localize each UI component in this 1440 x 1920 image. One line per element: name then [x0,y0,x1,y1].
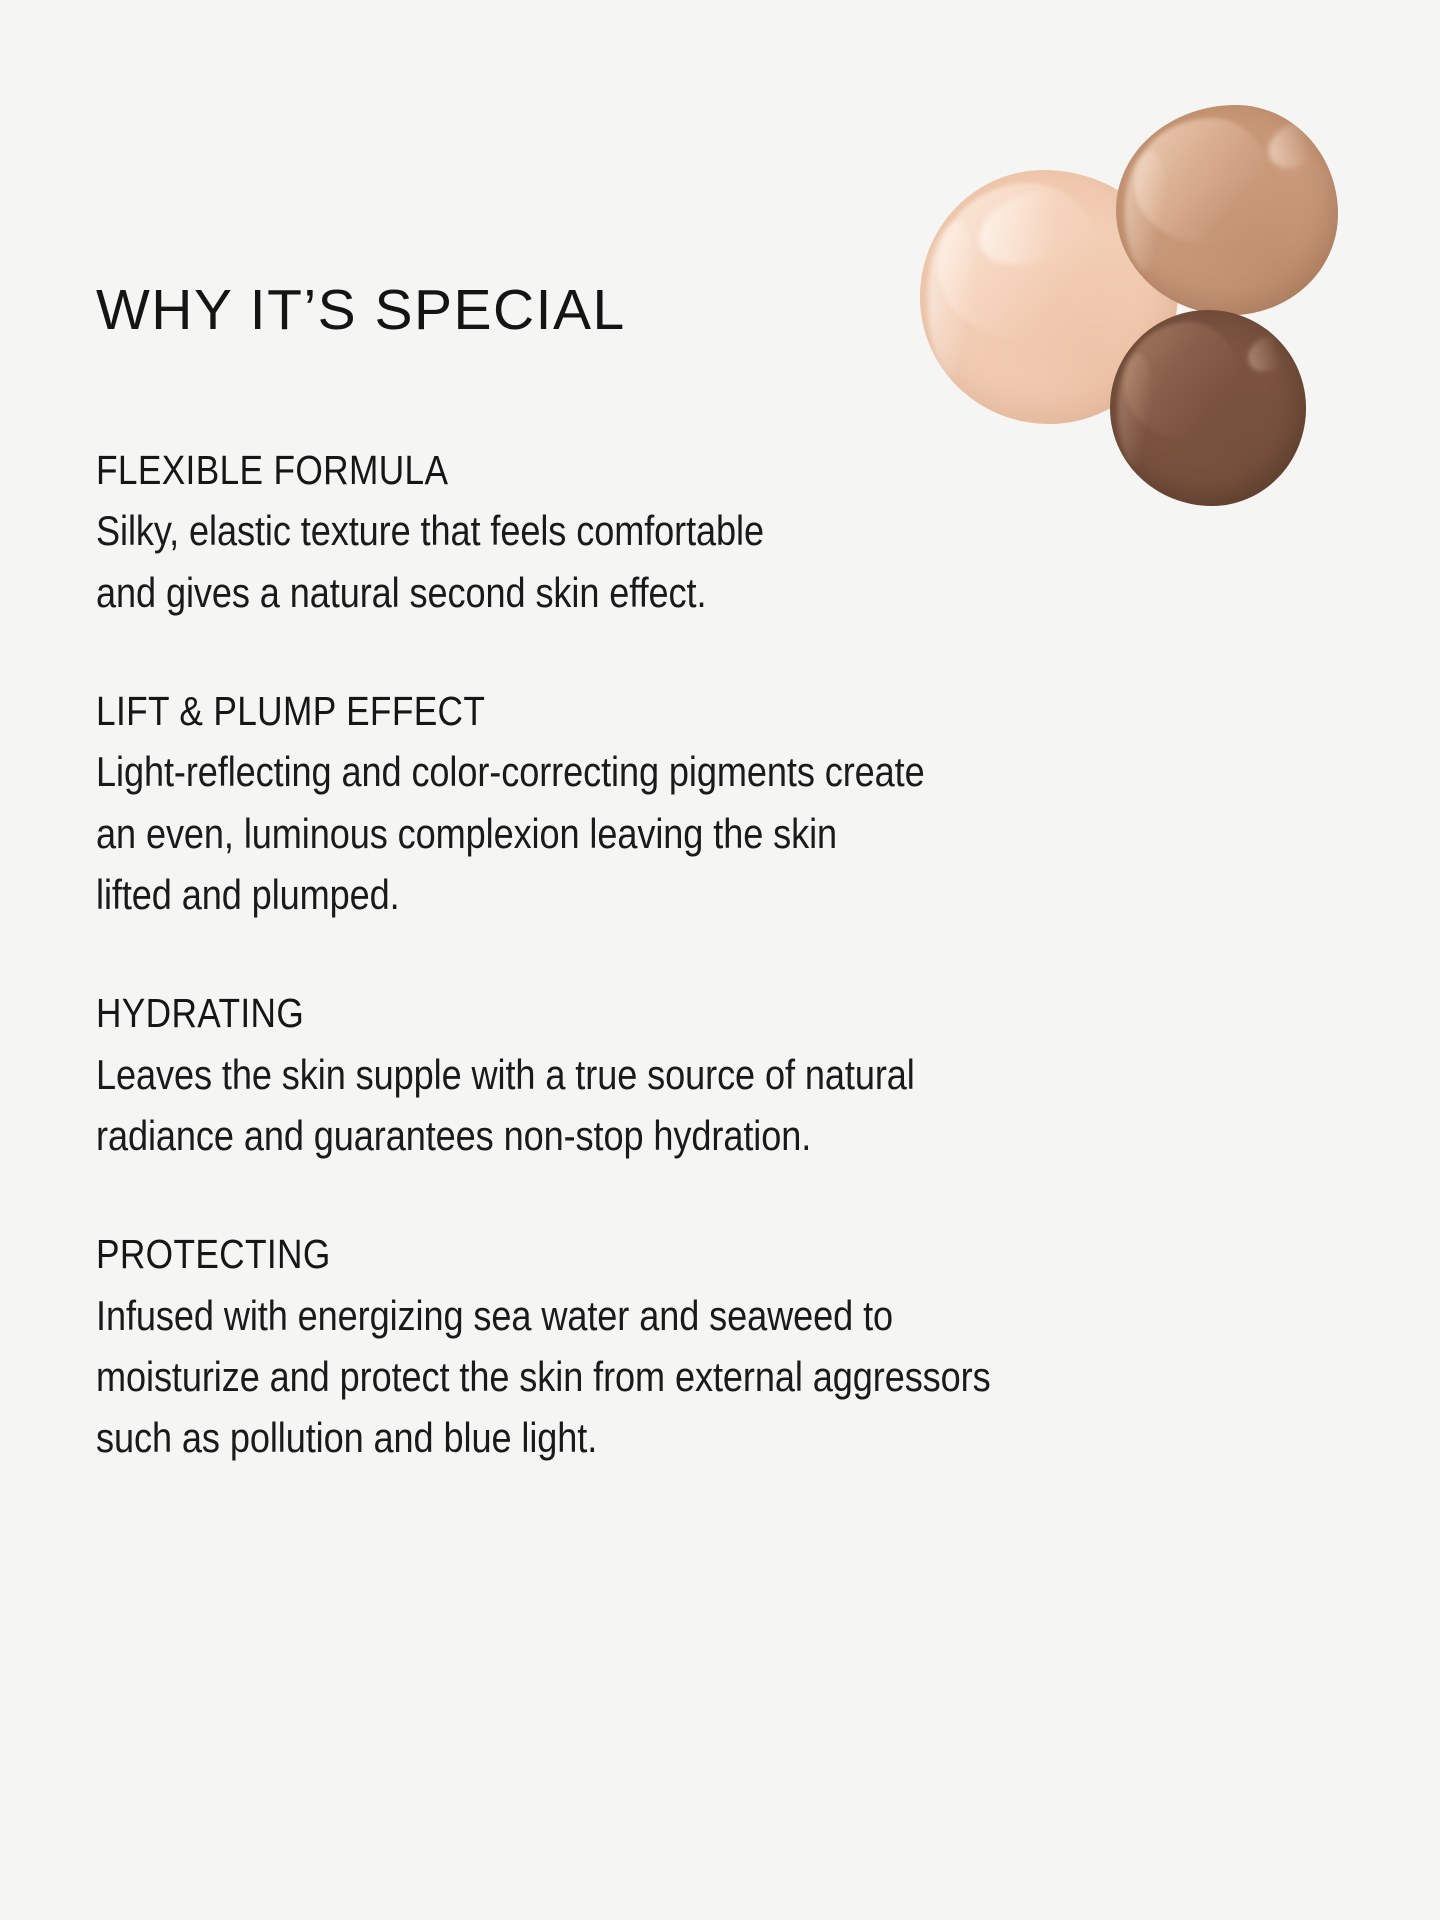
section-body: Light-reflecting and color-correcting pi… [96,741,1214,925]
section-heading: LIFT & PLUMP EFFECT [96,687,1214,735]
section-body: Leaves the skin supple with a true sourc… [96,1044,1214,1167]
section-heading: HYDRATING [96,989,1214,1037]
droplet-edge-highlight [928,221,977,378]
droplet-gloss-highlight [1134,118,1272,244]
benefit-section-hydrating: HYDRATING Leaves the skin supple with a … [96,989,1396,1166]
droplet-edge-highlight [1125,151,1169,273]
section-body: Silky, elastic texture that feels comfor… [96,500,1214,623]
benefit-section-lift-plump-effect: LIFT & PLUMP EFFECT Light-reflecting and… [96,687,1396,925]
droplet-gloss-highlight [938,183,1103,340]
section-heading: FLEXIBLE FORMULA [96,446,1214,494]
droplet-specular-highlight [1242,329,1296,380]
benefits-list: FLEXIBLE FORMULA Silky, elastic texture … [96,446,1396,1469]
product-benefits-page: WHY IT’S SPECIAL FLEXIBLE FORMULA Silky,… [0,0,1440,1920]
benefit-section-flexible-formula: FLEXIBLE FORMULA Silky, elastic texture … [96,446,1396,623]
page-title: WHY IT’S SPECIAL [96,282,626,339]
droplet-specular-highlight [1260,113,1331,177]
section-heading: PROTECTING [96,1230,1214,1278]
light-peach-droplet-icon [920,170,1178,424]
section-body: Infused with energizing sea water and se… [96,1285,1214,1469]
droplet-specular-highlight [968,178,1088,278]
benefit-section-protecting: PROTECTING Infused with energizing sea w… [96,1230,1396,1468]
medium-tan-droplet-icon [1116,105,1338,315]
droplet-gloss-highlight [1124,322,1242,440]
